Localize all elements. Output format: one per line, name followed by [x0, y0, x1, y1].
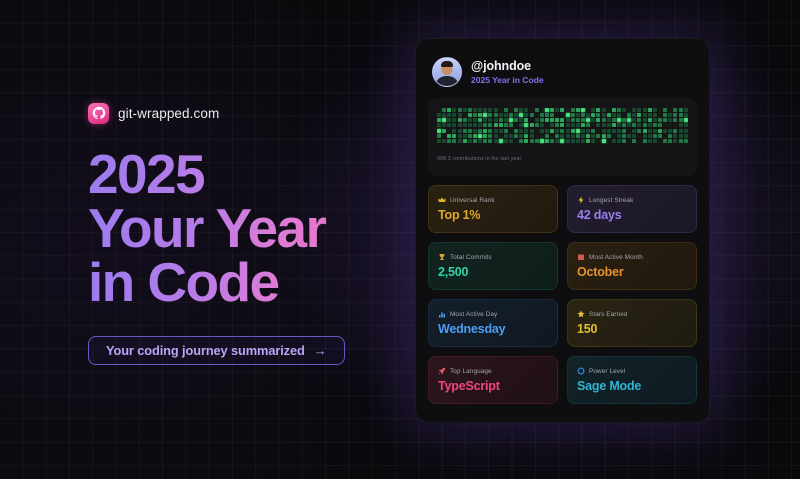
contribution-cell	[463, 108, 467, 112]
contribution-cell	[581, 123, 585, 127]
contribution-cell	[452, 123, 456, 127]
contribution-cell	[602, 139, 606, 143]
contribution-cell	[504, 139, 508, 143]
contribution-cell	[514, 123, 518, 127]
contribution-cell	[524, 113, 528, 117]
contribution-cell	[658, 118, 662, 122]
contribution-cell	[632, 113, 636, 117]
contribution-cell	[494, 113, 498, 117]
contribution-cell	[668, 123, 672, 127]
contribution-cell	[452, 139, 456, 143]
stat-card-stars-earned[interactable]: Stars Earned150	[567, 299, 697, 347]
contribution-cell	[514, 118, 518, 122]
contribution-cell	[437, 118, 441, 122]
stat-card-power-level[interactable]: Power LevelSage Mode	[567, 356, 697, 404]
contribution-cell	[473, 113, 477, 117]
stat-card-top-language[interactable]: Top LanguageTypeScript	[428, 356, 558, 404]
contribution-cell	[627, 108, 631, 112]
contribution-cell	[499, 129, 503, 133]
contribution-cell	[509, 129, 513, 133]
contribution-cell	[581, 139, 585, 143]
contribution-cell	[658, 108, 662, 112]
contribution-cell	[488, 113, 492, 117]
contribution-cell	[643, 123, 647, 127]
contribution-cell	[658, 113, 662, 117]
contribution-cell	[627, 129, 631, 133]
stat-value: Sage Mode	[577, 379, 687, 393]
contribution-cell	[637, 118, 641, 122]
contribution-cell	[591, 113, 595, 117]
contribution-cell	[504, 123, 508, 127]
contribution-cell	[679, 139, 683, 143]
contribution-cell	[545, 134, 549, 138]
contribution-cell	[566, 123, 570, 127]
contribution-cell	[571, 113, 575, 117]
rocket-icon	[438, 367, 446, 375]
contribution-cell	[535, 139, 539, 143]
contribution-cell	[596, 129, 600, 133]
contribution-cell	[494, 129, 498, 133]
contribution-cell	[637, 139, 641, 143]
contribution-cell	[545, 113, 549, 117]
contribution-cell	[473, 108, 477, 112]
brand-lockup[interactable]: git-wrapped.com	[88, 100, 388, 126]
contribution-cell	[581, 108, 585, 112]
contribution-cell	[679, 118, 683, 122]
contribution-cell	[622, 129, 626, 133]
lightning-icon	[577, 196, 585, 204]
contribution-cell	[463, 134, 467, 138]
contribution-cell	[519, 129, 523, 133]
contribution-cell	[560, 118, 564, 122]
contribution-cell	[668, 129, 672, 133]
contribution-cell	[566, 139, 570, 143]
contribution-cell	[617, 118, 621, 122]
contribution-cell	[607, 108, 611, 112]
contribution-cell	[442, 113, 446, 117]
contribution-cell	[535, 134, 539, 138]
contribution-cell	[596, 139, 600, 143]
contribution-cell	[607, 123, 611, 127]
contribution-cell	[530, 113, 534, 117]
stat-header: Universal Rank	[438, 196, 548, 204]
contribution-cell	[663, 118, 667, 122]
contribution-cell	[499, 134, 503, 138]
contribution-cell	[648, 129, 652, 133]
contribution-cell	[550, 139, 554, 143]
contribution-cell	[463, 139, 467, 143]
contribution-cell	[571, 129, 575, 133]
contribution-cell	[524, 123, 528, 127]
contribution-cell	[632, 129, 636, 133]
contribution-cell	[442, 129, 446, 133]
contribution-cell	[483, 123, 487, 127]
contribution-cell	[555, 123, 559, 127]
contribution-cell	[663, 139, 667, 143]
contribution-cell	[679, 129, 683, 133]
contribution-cell	[653, 113, 657, 117]
contribution-cell	[540, 139, 544, 143]
contribution-cell	[607, 113, 611, 117]
contribution-cell	[447, 113, 451, 117]
contribution-cell	[673, 134, 677, 138]
contribution-cell	[483, 108, 487, 112]
contribution-cell	[442, 108, 446, 112]
contribution-cell	[663, 123, 667, 127]
contribution-cell	[673, 129, 677, 133]
contribution-cell	[622, 134, 626, 138]
contribution-cell	[684, 108, 688, 112]
contribution-cell	[632, 108, 636, 112]
contribution-cell	[653, 118, 657, 122]
contribution-cell	[602, 118, 606, 122]
contribution-cell	[586, 129, 590, 133]
contribution-cell	[488, 129, 492, 133]
contribution-cell	[591, 129, 595, 133]
contribution-cell	[576, 113, 580, 117]
contribution-cell	[494, 139, 498, 143]
contribution-cell	[447, 108, 451, 112]
contribution-cell	[545, 108, 549, 112]
stat-label: Most Active Day	[450, 311, 497, 318]
contribution-cell	[627, 134, 631, 138]
contribution-cell	[452, 134, 456, 138]
contribution-cell	[468, 134, 472, 138]
contribution-cell	[514, 108, 518, 112]
stat-label: Power Level	[589, 368, 625, 375]
contribution-cell	[452, 113, 456, 117]
contribution-cell	[622, 108, 626, 112]
contribution-cell	[679, 113, 683, 117]
contribution-cell	[452, 108, 456, 112]
avatar	[432, 57, 462, 87]
contribution-cell	[514, 129, 518, 133]
contribution-cell	[555, 134, 559, 138]
stat-label: Stars Earned	[589, 311, 628, 318]
contribution-cell	[550, 113, 554, 117]
contribution-cell	[653, 108, 657, 112]
contribution-cell	[566, 129, 570, 133]
contribution-cell	[442, 123, 446, 127]
contribution-cell	[473, 139, 477, 143]
contribution-cell	[617, 139, 621, 143]
contribution-cell	[437, 123, 441, 127]
contribution-cell	[602, 123, 606, 127]
contribution-cell	[576, 134, 580, 138]
stat-value: 150	[577, 322, 687, 336]
contribution-cell	[684, 113, 688, 117]
contribution-cell	[658, 123, 662, 127]
contribution-cell	[627, 123, 631, 127]
contribution-cell	[447, 129, 451, 133]
contribution-cell	[437, 129, 441, 133]
contribution-cell	[463, 129, 467, 133]
contribution-cell	[663, 129, 667, 133]
contribution-cell	[452, 118, 456, 122]
contribution-cell	[519, 113, 523, 117]
stat-header: Total Commits	[438, 253, 548, 261]
contribution-cell	[643, 134, 647, 138]
contribution-cell	[540, 108, 544, 112]
contribution-cell	[555, 108, 559, 112]
contribution-cell	[581, 118, 585, 122]
contribution-cell	[617, 113, 621, 117]
contribution-cell	[653, 123, 657, 127]
profile-text: @johndoe 2025 Year in Code	[471, 59, 544, 85]
contribution-cell	[473, 134, 477, 138]
contribution-cell	[622, 118, 626, 122]
contribution-cell	[643, 113, 647, 117]
contribution-cell	[637, 134, 641, 138]
stat-header: Stars Earned	[577, 310, 687, 318]
contribution-cell	[530, 139, 534, 143]
contribution-cell	[530, 134, 534, 138]
stat-card-longest-streak[interactable]: Longest Streak42 days	[567, 185, 697, 233]
contribution-cell	[576, 139, 580, 143]
contribution-cell	[596, 123, 600, 127]
contribution-cell	[535, 113, 539, 117]
contribution-cell	[514, 139, 518, 143]
contribution-cell	[509, 108, 513, 112]
contribution-cell	[586, 139, 590, 143]
contribution-cell	[540, 134, 544, 138]
contribution-cell	[478, 113, 482, 117]
contribution-cell	[673, 118, 677, 122]
profile-handle: @johndoe	[471, 59, 544, 73]
contribution-cell	[643, 139, 647, 143]
crown-icon	[438, 196, 446, 204]
contribution-cell	[586, 113, 590, 117]
contribution-cell	[519, 134, 523, 138]
stat-card-total-commits[interactable]: Total Commits2,500	[428, 242, 558, 290]
page-title: 2025 Your Year in Code	[88, 148, 388, 310]
hero-section: git-wrapped.com 2025 Your Year in Code Y…	[88, 100, 388, 365]
contribution-cell	[509, 123, 513, 127]
contribution-cell	[524, 129, 528, 133]
contribution-cell	[555, 139, 559, 143]
contribution-cell	[504, 113, 508, 117]
contribution-cell	[483, 113, 487, 117]
contribution-cell	[632, 118, 636, 122]
contribution-cell	[581, 113, 585, 117]
contribution-caption: 998.3 contributions in the last year	[437, 156, 688, 162]
bar-chart-icon	[438, 310, 446, 318]
contribution-cell	[535, 118, 539, 122]
contribution-cell	[643, 118, 647, 122]
contribution-cell	[591, 134, 595, 138]
contribution-cell	[617, 123, 621, 127]
contribution-cell	[458, 123, 462, 127]
contribution-cell	[468, 129, 472, 133]
contribution-cell	[468, 139, 472, 143]
profile-subtitle: 2025 Year in Code	[471, 75, 544, 85]
contribution-cell	[468, 118, 472, 122]
contribution-cell	[566, 134, 570, 138]
arrow-right-icon: →	[314, 344, 327, 357]
contribution-cell	[684, 139, 688, 143]
contribution-cell	[463, 113, 467, 117]
stat-value: Top 1%	[438, 208, 548, 222]
contribution-cell	[648, 134, 652, 138]
contribution-cell	[663, 108, 667, 112]
stat-value: October	[577, 265, 687, 279]
contribution-cell	[668, 108, 672, 112]
contribution-graph-panel: 998.3 contributions in the last year	[428, 98, 697, 176]
contribution-cell	[514, 113, 518, 117]
contribution-cell	[668, 118, 672, 122]
contribution-cell	[622, 113, 626, 117]
contribution-cell	[550, 134, 554, 138]
contribution-cell	[437, 134, 441, 138]
contribution-cell	[442, 118, 446, 122]
contribution-cell	[596, 108, 600, 112]
contribution-cell	[653, 129, 657, 133]
stat-card-universal-rank[interactable]: Universal RankTop 1%	[428, 185, 558, 233]
contribution-cell	[509, 118, 513, 122]
contribution-cell	[519, 108, 523, 112]
contribution-cell	[494, 118, 498, 122]
contribution-cell	[504, 118, 508, 122]
contribution-cell	[617, 129, 621, 133]
contribution-cell	[530, 118, 534, 122]
contribution-cell	[612, 129, 616, 133]
contribution-cell	[478, 139, 482, 143]
contribution-cell	[463, 118, 467, 122]
contribution-cell	[653, 134, 657, 138]
contribution-cell	[612, 113, 616, 117]
contribution-cell	[555, 129, 559, 133]
contribution-cell	[658, 129, 662, 133]
contribution-cell	[452, 129, 456, 133]
headline-line-2: Your Year	[88, 202, 388, 256]
stat-label: Longest Streak	[589, 197, 633, 204]
contribution-cell	[637, 129, 641, 133]
contribution-cell	[540, 123, 544, 127]
contribution-cell	[648, 118, 652, 122]
contribution-cell	[612, 108, 616, 112]
contribution-cell	[612, 123, 616, 127]
contribution-cell	[519, 139, 523, 143]
stat-label: Universal Rank	[450, 197, 495, 204]
contribution-cell	[566, 108, 570, 112]
contribution-cell	[458, 113, 462, 117]
contribution-cell	[524, 139, 528, 143]
contribution-cell	[478, 134, 482, 138]
contribution-cell	[679, 123, 683, 127]
contribution-cell	[458, 139, 462, 143]
contribution-cell	[668, 134, 672, 138]
stat-card-most-active-day[interactable]: Most Active DayWednesday	[428, 299, 558, 347]
contribution-cell	[627, 118, 631, 122]
contribution-cell	[519, 118, 523, 122]
contribution-cell	[478, 118, 482, 122]
contribution-cell	[499, 118, 503, 122]
contribution-cell	[679, 108, 683, 112]
contribution-cell	[627, 139, 631, 143]
contribution-cell	[571, 134, 575, 138]
cta-button[interactable]: Your coding journey summarized →	[88, 336, 345, 365]
contribution-cell	[560, 129, 564, 133]
github-cat-icon	[88, 103, 109, 124]
contribution-cell	[509, 113, 513, 117]
trophy-icon	[438, 253, 446, 261]
contribution-cell	[509, 134, 513, 138]
contribution-cell	[488, 134, 492, 138]
contribution-cell	[576, 123, 580, 127]
contribution-cell	[663, 134, 667, 138]
contribution-graph[interactable]	[437, 108, 688, 144]
contribution-cell	[607, 139, 611, 143]
contribution-cell	[483, 129, 487, 133]
contribution-cell	[668, 139, 672, 143]
contribution-cell	[473, 118, 477, 122]
contribution-cell	[648, 139, 652, 143]
contribution-cell	[504, 129, 508, 133]
contribution-cell	[463, 123, 467, 127]
contribution-cell	[535, 129, 539, 133]
contribution-cell	[576, 108, 580, 112]
stat-label: Most Active Month	[589, 254, 643, 261]
contribution-cell	[540, 118, 544, 122]
contribution-cell	[535, 123, 539, 127]
contribution-cell	[596, 113, 600, 117]
contribution-cell	[571, 108, 575, 112]
stat-header: Most Active Day	[438, 310, 548, 318]
contribution-cell	[437, 108, 441, 112]
stat-label: Top Language	[450, 368, 492, 375]
contribution-cell	[622, 123, 626, 127]
contribution-cell	[607, 129, 611, 133]
contribution-cell	[596, 134, 600, 138]
contribution-cell	[673, 123, 677, 127]
contribution-cell	[540, 113, 544, 117]
contribution-cell	[478, 123, 482, 127]
contribution-cell	[607, 134, 611, 138]
contribution-cell	[586, 123, 590, 127]
contribution-cell	[617, 108, 621, 112]
stat-card-most-active-month[interactable]: Most Active MonthOctober	[567, 242, 697, 290]
contribution-cell	[632, 134, 636, 138]
stat-header: Most Active Month	[577, 253, 687, 261]
contribution-cell	[514, 134, 518, 138]
contribution-cell	[596, 118, 600, 122]
contribution-cell	[632, 123, 636, 127]
contribution-cell	[442, 134, 446, 138]
contribution-cell	[566, 113, 570, 117]
cta-label: Your coding journey summarized	[106, 343, 305, 358]
contribution-cell	[622, 139, 626, 143]
contribution-cell	[437, 139, 441, 143]
contribution-cell	[658, 139, 662, 143]
power-orb-icon	[577, 367, 585, 375]
contribution-cell	[488, 123, 492, 127]
profile-header: @johndoe 2025 Year in Code	[428, 51, 697, 89]
calendar-icon	[577, 253, 585, 261]
wrapped-card: @johndoe 2025 Year in Code 998.3 contrib…	[415, 38, 710, 423]
contribution-cell	[473, 129, 477, 133]
contribution-cell	[468, 123, 472, 127]
contribution-cell	[560, 139, 564, 143]
stat-value: 2,500	[438, 265, 548, 279]
contribution-cell	[447, 123, 451, 127]
stats-grid: Universal RankTop 1%Longest Streak42 day…	[428, 185, 697, 404]
contribution-cell	[581, 134, 585, 138]
contribution-cell	[504, 134, 508, 138]
contribution-cell	[602, 113, 606, 117]
stat-header: Longest Streak	[577, 196, 687, 204]
stat-value: Wednesday	[438, 322, 548, 336]
contribution-cell	[555, 118, 559, 122]
